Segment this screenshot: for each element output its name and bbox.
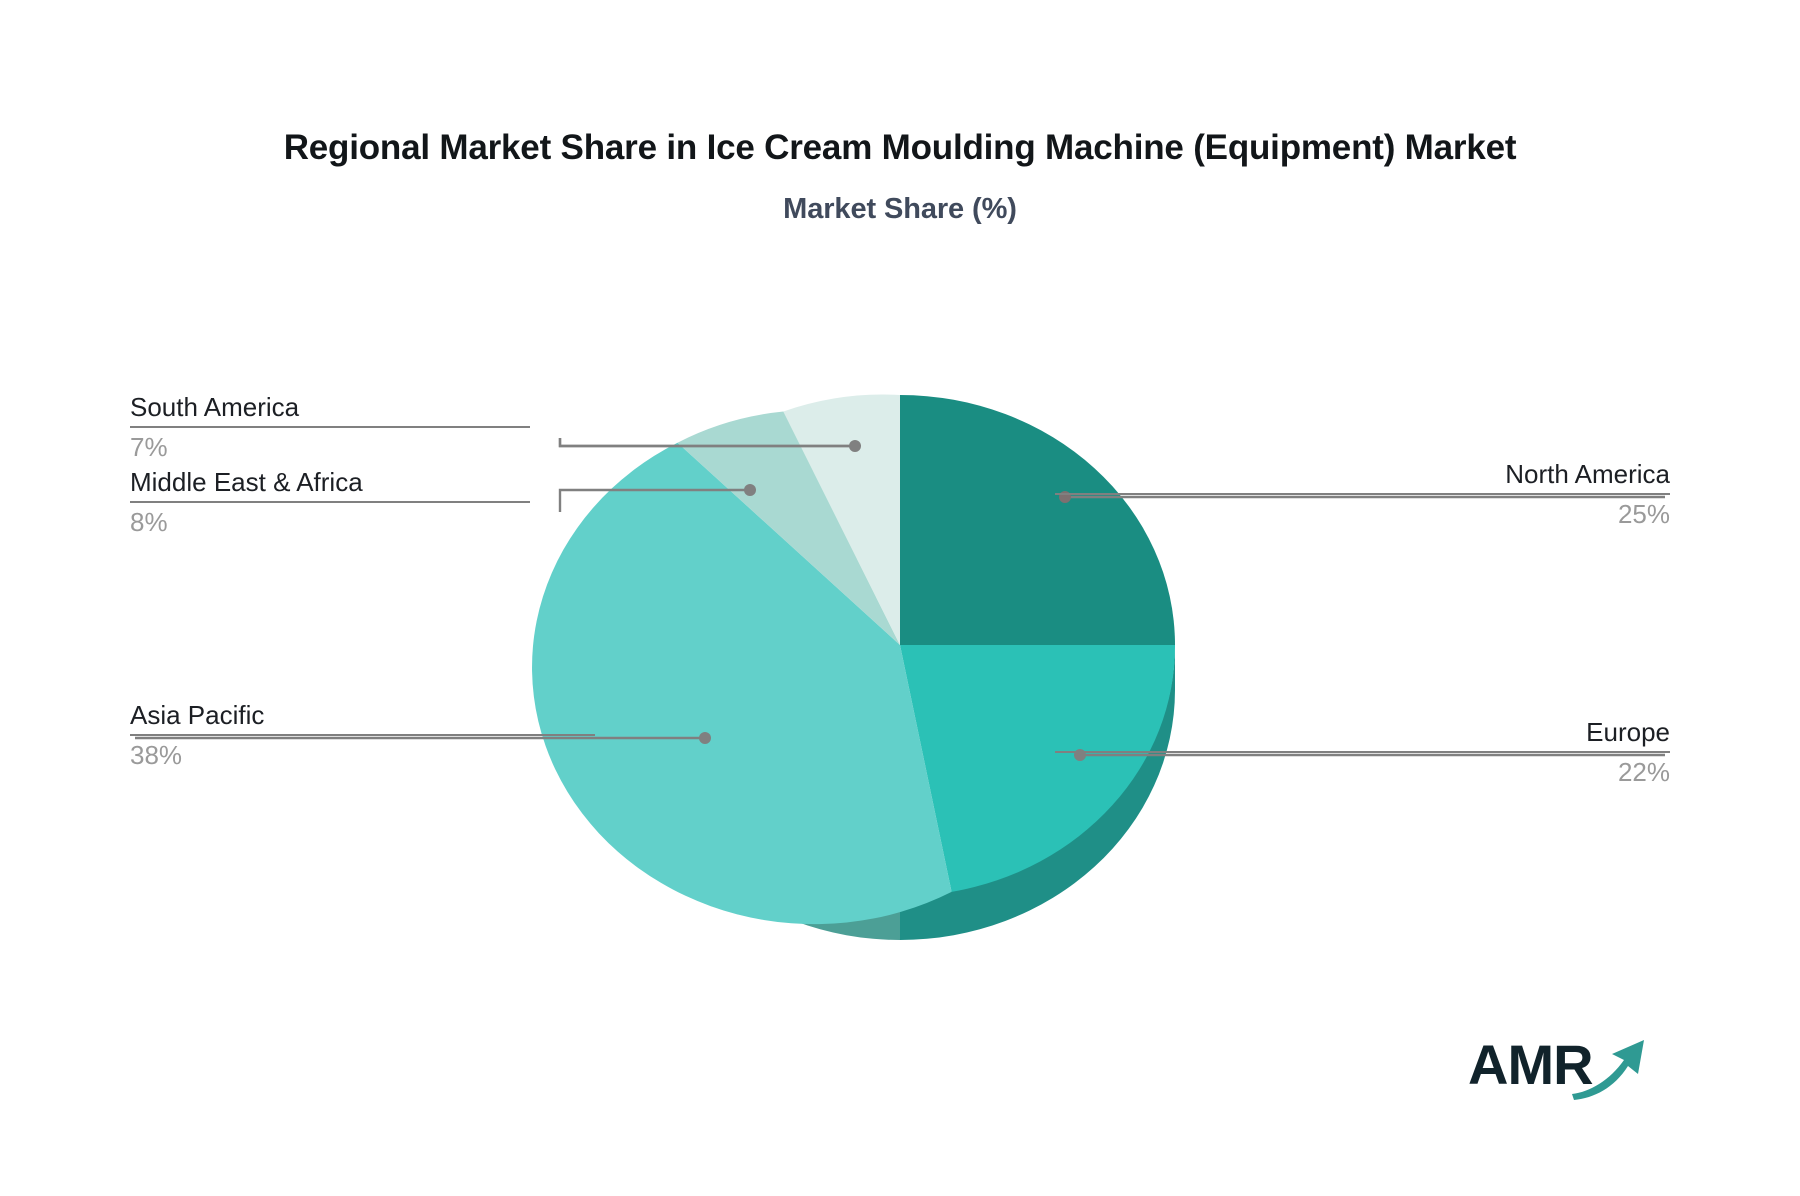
chart-canvas: Regional Market Share in Ice Cream Mould… [0, 0, 1800, 1196]
label-middle-east-africa-rule [130, 501, 530, 503]
label-north-america-rule [1055, 493, 1670, 495]
label-asia-pacific-name: Asia Pacific [130, 698, 595, 732]
label-middle-east-africa[interactable]: Middle East & Africa 8% [130, 465, 530, 539]
label-north-america-name: North America [1055, 457, 1670, 491]
label-north-america-value: 25% [1055, 497, 1670, 531]
amr-logo: AMR [1468, 1032, 1648, 1102]
label-asia-pacific[interactable]: Asia Pacific 38% [130, 698, 595, 772]
leader-dot-middle-east-africa [744, 484, 756, 496]
leader-dot-asia-pacific [699, 732, 711, 744]
label-middle-east-africa-value: 8% [130, 505, 530, 539]
leader-dot-south-america [849, 440, 861, 452]
label-south-america-value: 7% [130, 430, 530, 464]
label-south-america-rule [130, 426, 530, 428]
label-south-america-name: South America [130, 390, 530, 424]
label-middle-east-africa-name: Middle East & Africa [130, 465, 530, 499]
label-europe[interactable]: Europe 22% [1055, 715, 1670, 789]
pie-chart [0, 0, 1800, 1196]
label-asia-pacific-value: 38% [130, 738, 595, 772]
growth-arrow-icon [1568, 1032, 1648, 1102]
label-north-america[interactable]: North America 25% [1055, 457, 1670, 531]
label-south-america[interactable]: South America 7% [130, 390, 530, 464]
label-europe-name: Europe [1055, 715, 1670, 749]
label-europe-value: 22% [1055, 755, 1670, 789]
label-asia-pacific-rule [130, 734, 595, 736]
label-europe-rule [1055, 751, 1670, 753]
